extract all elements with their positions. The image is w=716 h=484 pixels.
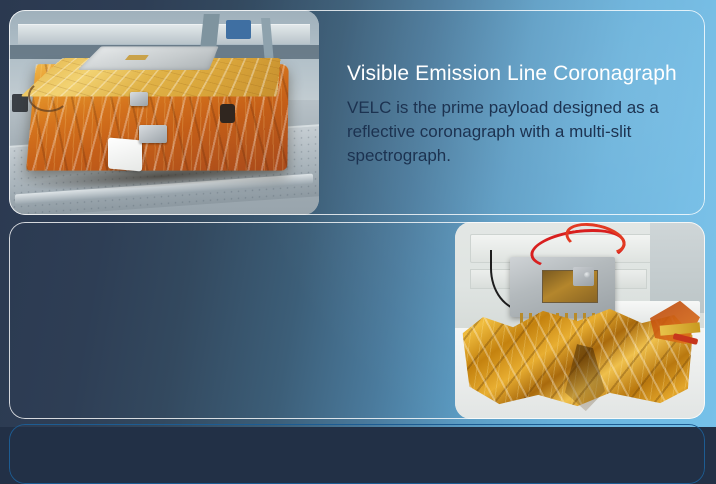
payload-cable bbox=[28, 80, 69, 113]
solexs-photo-scene bbox=[455, 222, 705, 419]
detector-knob bbox=[584, 272, 591, 279]
payload-aperture-port bbox=[220, 104, 236, 122]
blue-equipment-box bbox=[226, 20, 251, 38]
payload-white-top-panel bbox=[77, 46, 218, 70]
velc-description: VELC is the prime payload designed as a … bbox=[347, 96, 699, 168]
solexs-payload-photo bbox=[455, 222, 705, 419]
payload-connector-upper bbox=[130, 92, 149, 106]
next-card-border bbox=[9, 424, 705, 484]
velc-photo-scene bbox=[9, 10, 319, 215]
velc-payload-photo bbox=[9, 10, 319, 215]
card-solexs[interactable]: Solar Low Energy X-ray Spectrometer SoLE… bbox=[9, 222, 705, 419]
velc-title: Visible Emission Line Coronagraph bbox=[347, 62, 699, 86]
payload-connector-lower bbox=[139, 125, 167, 143]
page-background: Visible Emission Line Coronagraph VELC i… bbox=[0, 0, 716, 427]
card-next-partial[interactable] bbox=[9, 424, 705, 484]
lab-side-panel bbox=[650, 222, 705, 313]
velc-text-block: Visible Emission Line Coronagraph VELC i… bbox=[347, 62, 699, 169]
card-velc[interactable]: Visible Emission Line Coronagraph VELC i… bbox=[9, 10, 705, 215]
payload-white-patch bbox=[108, 138, 142, 172]
floor-equipment bbox=[12, 94, 28, 112]
